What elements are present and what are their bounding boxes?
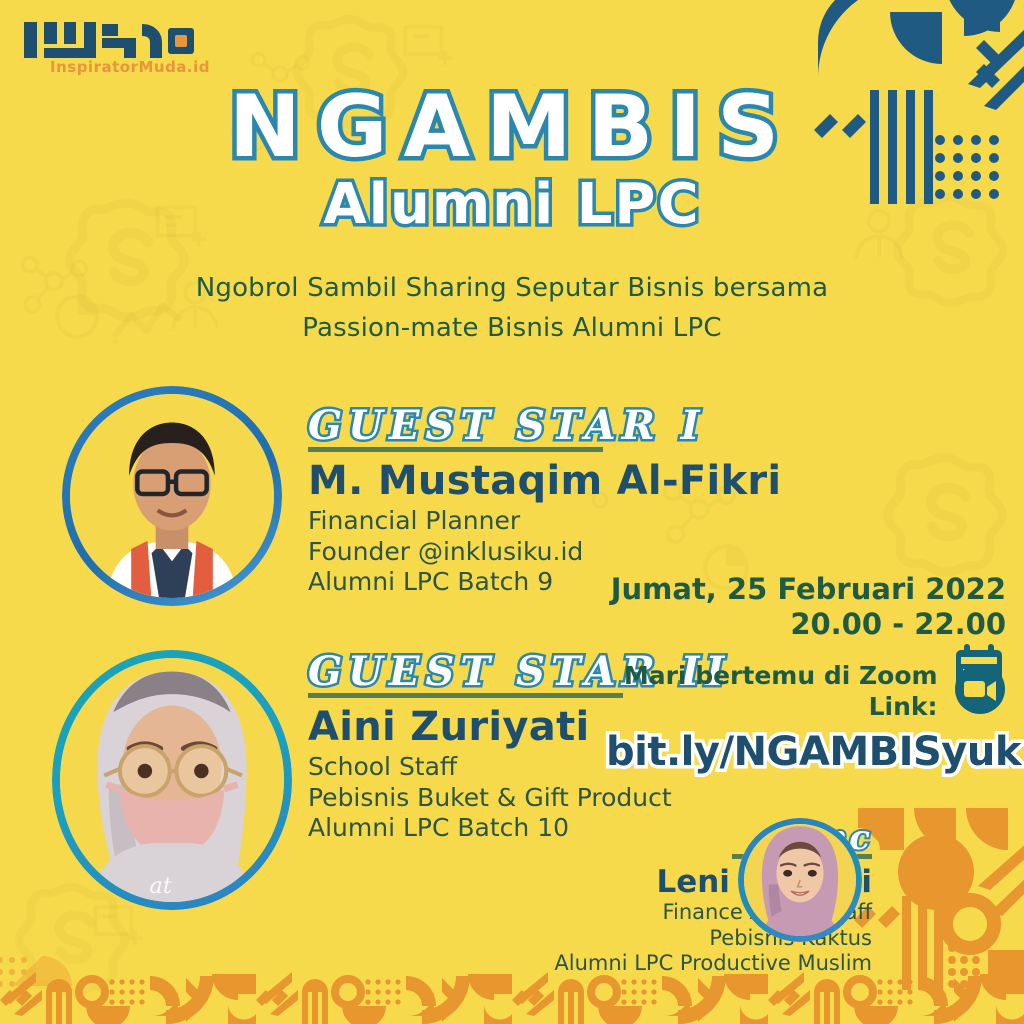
guest-star-label: GUEST STAR I bbox=[308, 402, 778, 449]
poster-canvas: InspiratorMuda.id NGAMBIS Alumni LPC Ngo… bbox=[0, 0, 1024, 1024]
zoom-link-url[interactable]: bit.ly/NGAMBISyuk bbox=[606, 729, 1006, 775]
guest-block-1: GUEST STAR I M. Mustaqim Al-Fikri Financ… bbox=[308, 402, 778, 598]
mc-photo-avatar bbox=[744, 824, 856, 936]
avatar: at bbox=[52, 650, 292, 910]
guest-photo-avatar bbox=[70, 394, 274, 598]
guest-photo-avatar: at bbox=[60, 658, 284, 902]
mc-role: Alumni LPC Productive Muslim bbox=[420, 951, 872, 977]
presentation-board-icon bbox=[398, 20, 456, 76]
presentation-board-icon bbox=[88, 900, 146, 956]
zoom-link-label: Link: bbox=[869, 692, 938, 721]
bottom-left-geometric-decoration bbox=[0, 910, 110, 1000]
avatar bbox=[62, 386, 282, 606]
guest-role: Pebisnis Buket & Gift Product bbox=[308, 783, 778, 814]
schedule-text: Jumat, 25 Februari 2022 20.00 - 22.00 bbox=[611, 572, 1006, 642]
skype-s-icon bbox=[12, 880, 132, 1000]
svg-text:at: at bbox=[149, 873, 172, 899]
zoom-invite: Mari bertemu di Zoom bbox=[624, 661, 938, 690]
skype-s-icon bbox=[880, 450, 1010, 580]
schedule-time: 20.00 - 22.00 bbox=[790, 607, 1006, 641]
guest-role: Financial Planner bbox=[308, 506, 778, 537]
brand-name: InspiratorMuda.id bbox=[50, 58, 210, 76]
tagline-block: Ngobrol Sambil Sharing Seputar Bisnis be… bbox=[0, 268, 1024, 349]
guest-name: M. Mustaqim Al-Fikri bbox=[308, 458, 778, 504]
page-subtitle: Alumni LPC bbox=[0, 174, 1024, 236]
zoom-block: Mari bertemu di Zoom Link: bit.ly/NGAMBI… bbox=[606, 660, 1006, 775]
tagline-line-1: Ngobrol Sambil Sharing Seputar Bisnis be… bbox=[0, 268, 1024, 308]
headline-block: NGAMBIS Alumni LPC bbox=[0, 82, 1024, 236]
tagline-line-2: Passion-mate Bisnis Alumni LPC bbox=[0, 308, 1024, 348]
zoom-video-camera-icon[interactable] bbox=[954, 663, 1006, 720]
guest-role: Founder @inklusiku.id bbox=[308, 537, 778, 568]
brand-logo[interactable]: InspiratorMuda.id bbox=[18, 18, 218, 82]
page-title: NGAMBIS bbox=[0, 82, 1024, 172]
avatar bbox=[738, 818, 862, 942]
schedule-date: Jumat, 25 Februari 2022 bbox=[611, 572, 1006, 606]
zoom-invite-text: Mari bertemu di Zoom Link: bbox=[624, 660, 938, 723]
